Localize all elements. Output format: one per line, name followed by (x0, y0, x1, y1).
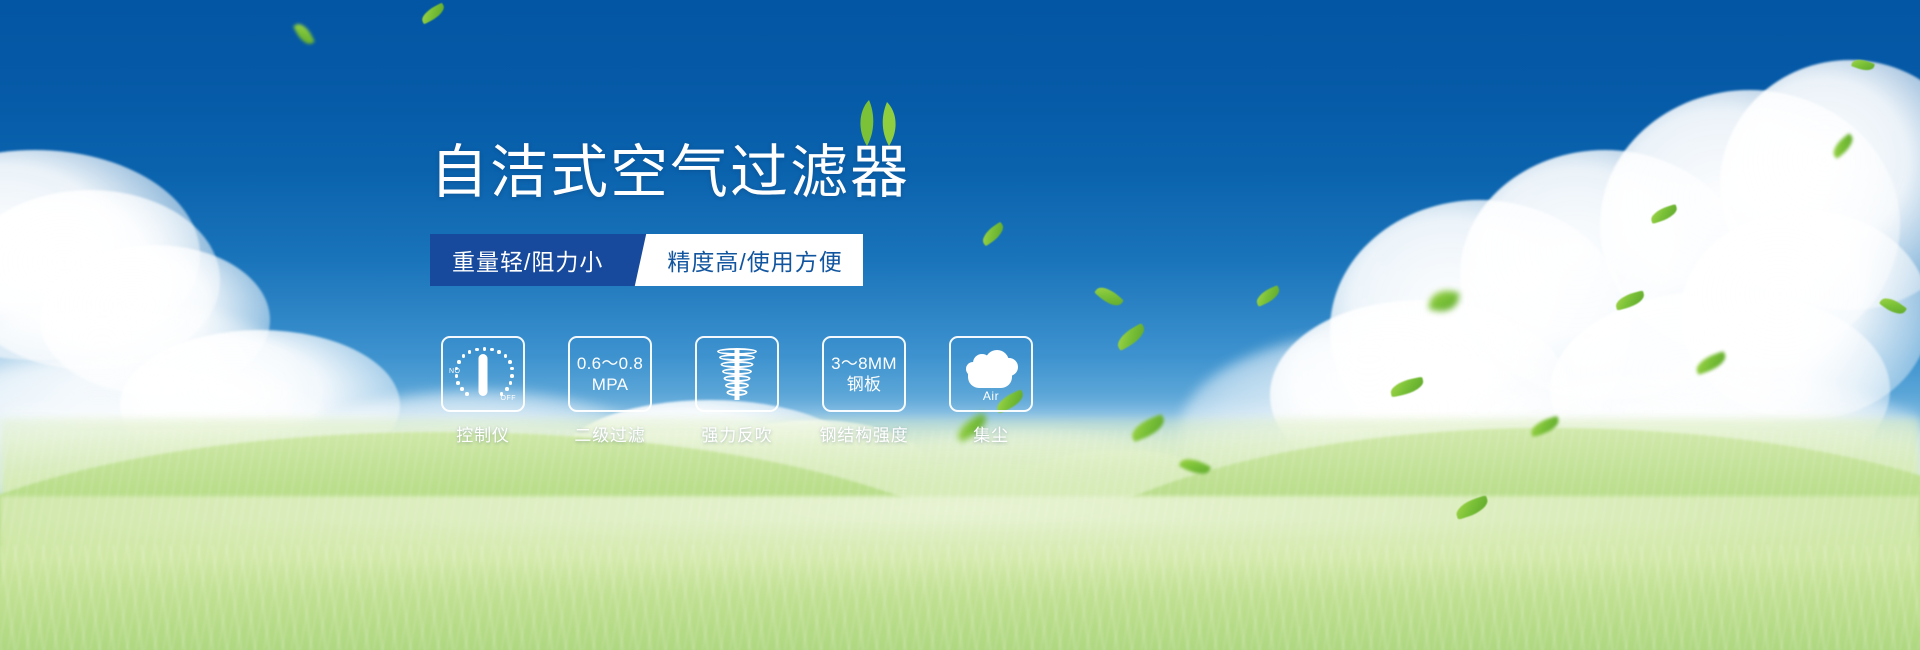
gauge-dial-icon: NO OFF (451, 344, 515, 404)
title-leaf-ornament-icon (845, 98, 905, 148)
feature-icon-box: 3～8MM 钢板 (822, 336, 906, 412)
feature-label: 钢结构强度 (820, 421, 909, 446)
feature-label: 二级过滤 (574, 421, 645, 446)
feature-icon-box (695, 336, 779, 412)
feature-item[interactable]: 强力反吹 (695, 336, 779, 446)
feature-item[interactable]: 0.6～0.8 MPA 二级过滤 (568, 336, 652, 446)
feature-label: 集尘 (973, 421, 1009, 446)
feature-item[interactable]: 3～8MM 钢板 钢结构强度 (822, 336, 906, 446)
badge-right-label: 精度高/使用方便 (659, 234, 862, 286)
feature-list: NO OFF 控制仪 0.6～0.8 MPA 二级过滤 (441, 336, 1033, 446)
feature-badge: 重量轻/阻力小 精度高/使用方便 (430, 234, 863, 286)
dial-on-label: NO (449, 368, 461, 375)
feature-item[interactable]: NO OFF 控制仪 (441, 336, 525, 446)
badge-left-label: 重量轻/阻力小 (430, 234, 629, 286)
page-title: 自洁式空气过滤器 (430, 138, 910, 208)
feature-icon-box: Air (949, 336, 1033, 412)
sky-background (0, 0, 1920, 650)
cloud-air-icon: Air (960, 346, 1022, 402)
pressure-text-icon: 0.6～0.8 MPA (577, 353, 643, 395)
dial-needle (479, 354, 488, 396)
air-label: Air (960, 389, 1022, 403)
feature-label: 强力反吹 (701, 421, 772, 446)
feature-item[interactable]: Air 集尘 (949, 336, 1033, 446)
promo-banner: 自洁式空气过滤器 重量轻/阻力小 精度高/使用方便 (0, 0, 1920, 650)
feature-icon-box: NO OFF (441, 336, 525, 412)
coil-blowback-icon (714, 346, 760, 402)
feature-icon-box: 0.6～0.8 MPA (568, 336, 652, 412)
dial-off-label: OFF (501, 395, 517, 402)
feature-label: 控制仪 (456, 421, 509, 446)
steel-plate-text-icon: 3～8MM 钢板 (831, 353, 897, 395)
badge-divider (629, 234, 659, 286)
